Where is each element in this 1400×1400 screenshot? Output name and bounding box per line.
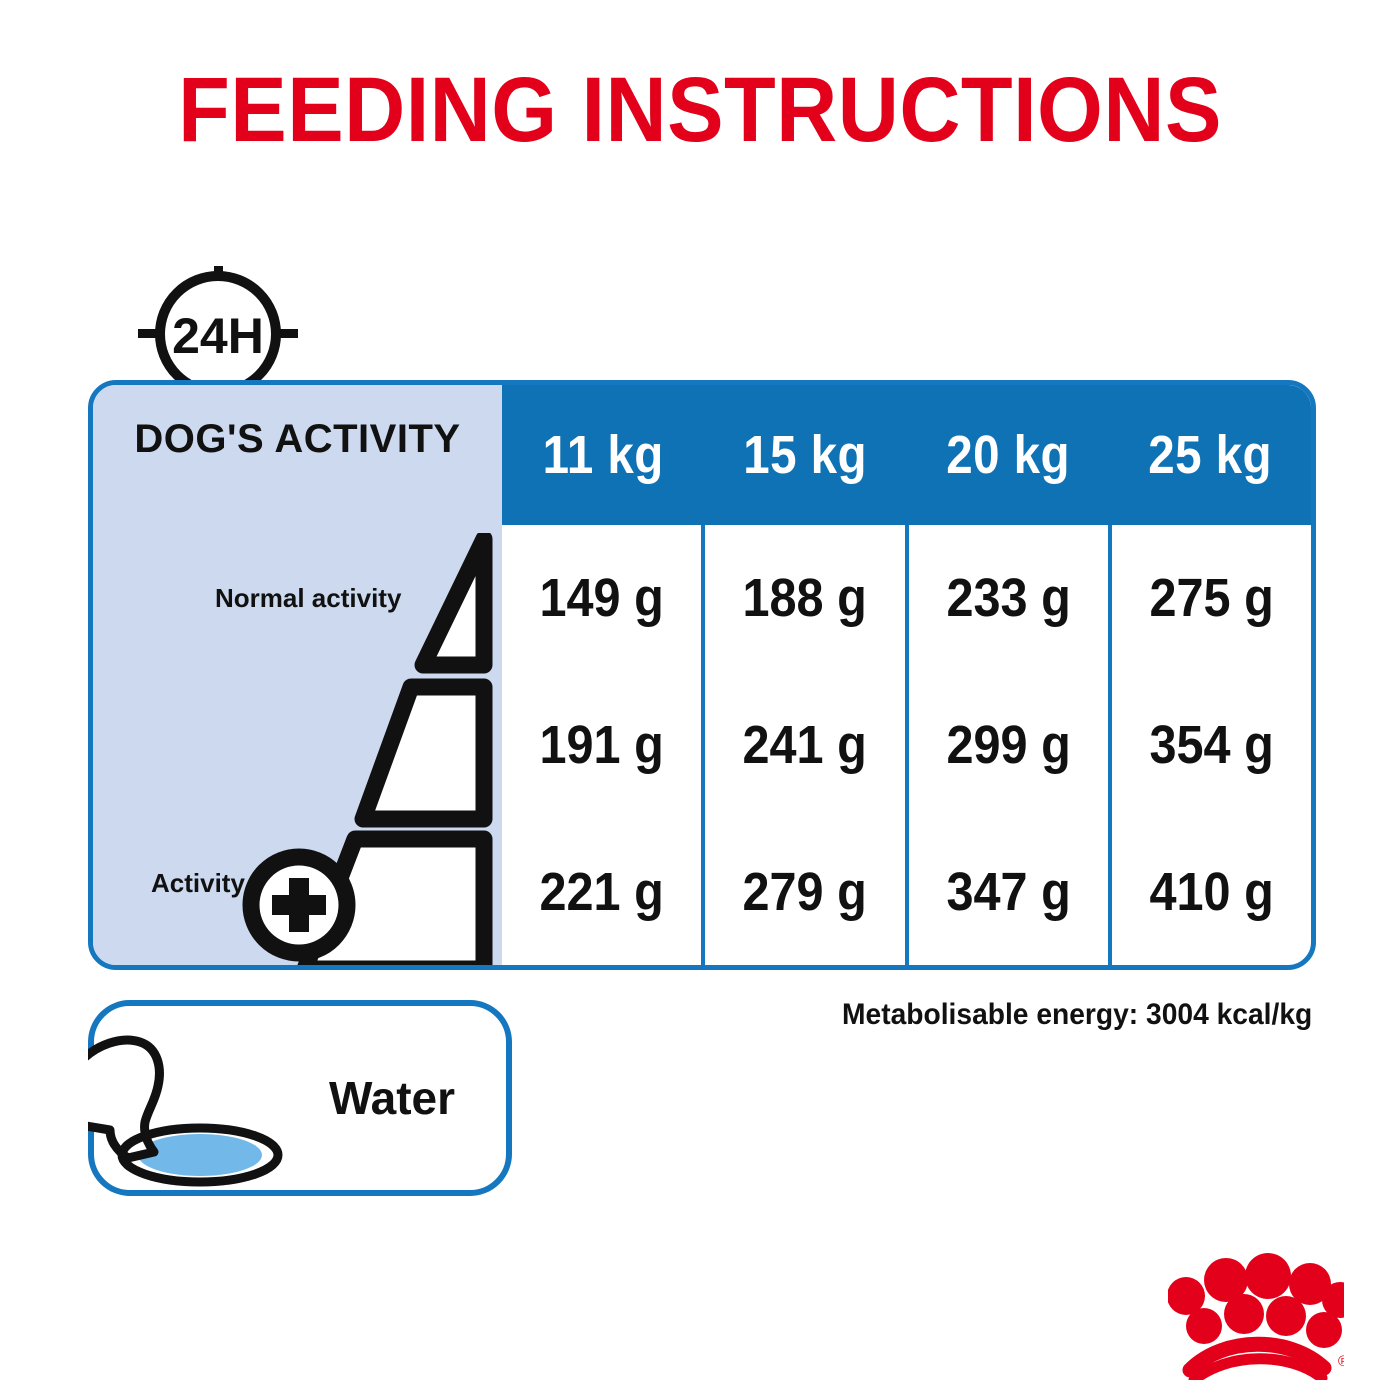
- clock-24h-icon: 24H: [138, 266, 298, 391]
- value-cell: 347 g: [918, 818, 1097, 965]
- value-cell: 241 g: [715, 672, 894, 819]
- value-column-20kg: 233 g 299 g 347 g: [905, 525, 1108, 965]
- value-cell: 354 g: [1122, 672, 1301, 819]
- row-label-normal-activity: Normal activity: [215, 583, 401, 614]
- metabolisable-energy-note: Metabolisable energy: 3004 kcal/kg: [842, 998, 1312, 1032]
- plus-circle-icon: [251, 857, 347, 953]
- water-label: Water: [272, 1006, 512, 1190]
- value-cell: 221 g: [512, 818, 691, 965]
- value-cell: 149 g: [512, 525, 691, 672]
- value-column-15kg: 188 g 241 g 279 g: [701, 525, 904, 965]
- value-cell: 275 g: [1122, 525, 1301, 672]
- feeding-table: DOG'S ACTIVITY Normal activity Activity …: [88, 380, 1316, 970]
- weight-header-15kg: 15 kg: [716, 385, 894, 525]
- svg-text:®: ®: [1338, 1353, 1344, 1370]
- feeding-values-grid: 149 g 191 g 221 g 188 g 241 g 279 g 233 …: [502, 525, 1311, 965]
- page-title: FEEDING INSTRUCTIONS: [56, 62, 1344, 159]
- weight-header-11kg: 11 kg: [514, 385, 692, 525]
- dog-drinking-water-icon: [88, 1022, 298, 1187]
- weight-header-25kg: 25 kg: [1121, 385, 1299, 525]
- water-box: Water: [88, 1000, 512, 1196]
- value-cell: 299 g: [918, 672, 1097, 819]
- weight-header-20kg: 20 kg: [919, 385, 1097, 525]
- row-label-activity: Activity: [151, 868, 245, 899]
- royal-canin-crown-logo: ®: [1168, 1248, 1344, 1380]
- value-cell: 188 g: [715, 525, 894, 672]
- value-column-11kg: 149 g 191 g 221 g: [502, 525, 701, 965]
- value-cell: 191 g: [512, 672, 691, 819]
- value-cell: 279 g: [715, 818, 894, 965]
- activity-column-header: DOG'S ACTIVITY: [93, 417, 502, 461]
- svg-text:24H: 24H: [172, 308, 264, 364]
- dogs-activity-panel: DOG'S ACTIVITY Normal activity Activity: [93, 385, 502, 965]
- value-column-25kg: 275 g 354 g 410 g: [1108, 525, 1311, 965]
- weight-header-row: 11 kg 15 kg 20 kg 25 kg: [502, 385, 1311, 525]
- value-cell: 410 g: [1122, 818, 1301, 965]
- value-cell: 233 g: [918, 525, 1097, 672]
